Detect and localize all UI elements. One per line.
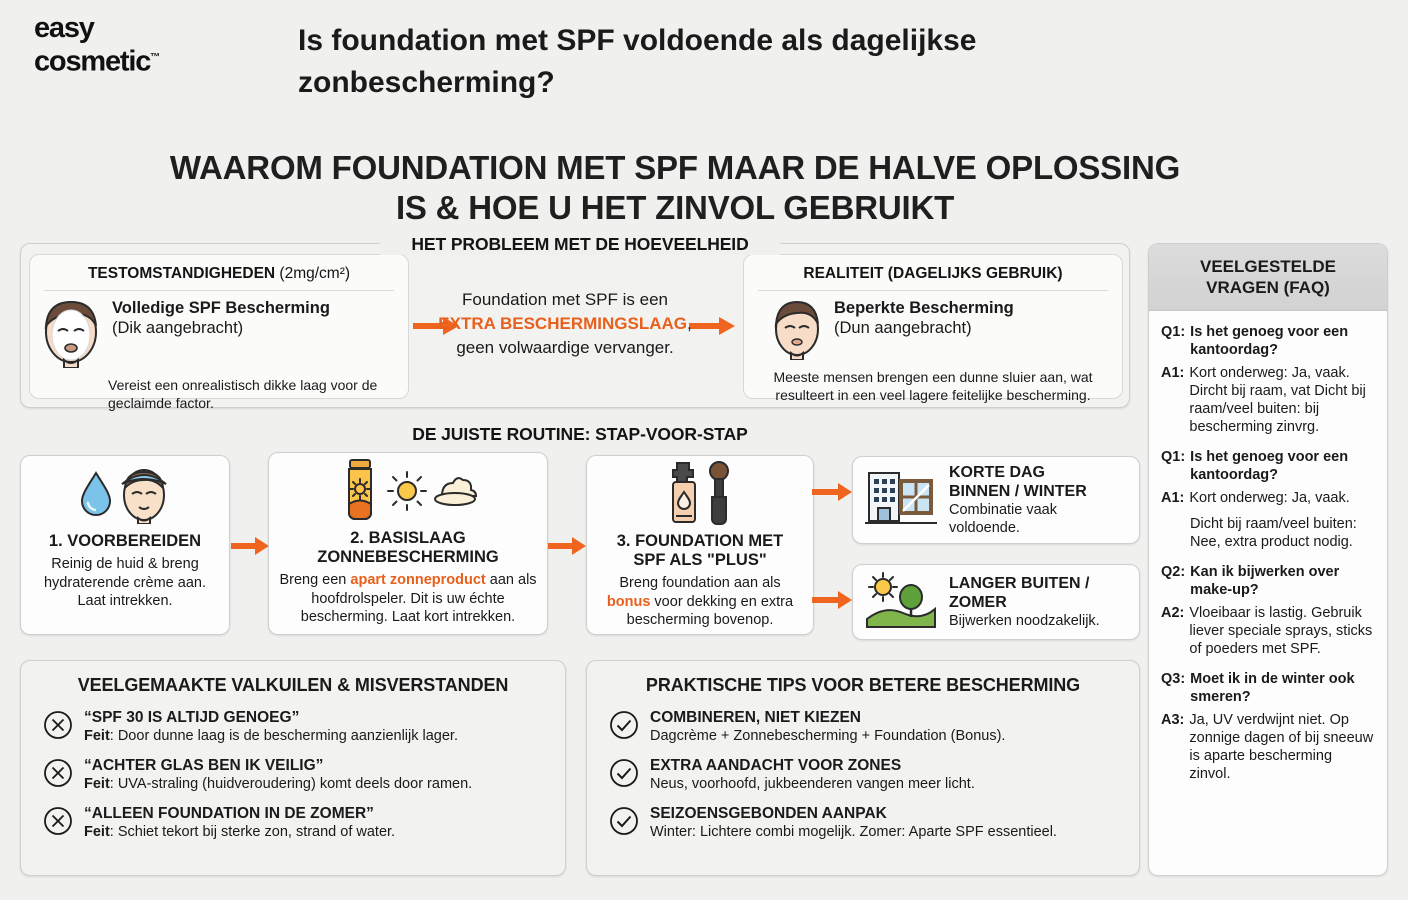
faq-a-text: Ja, UV verdwijnt niet. Op zonnige dagen …: [1189, 711, 1375, 783]
list-item: “ACHTER GLAS BEN IK VEILIG” Feit: UVA-st…: [21, 752, 565, 800]
check-circle-icon: [609, 758, 639, 794]
tip-3-text: SEIZOENSGEBONDEN AANPAK Winter: Lichtere…: [650, 804, 1057, 842]
reality-text: Beperkte Bescherming (Dun aangebracht): [834, 298, 1014, 365]
pitfall-2-text: “ACHTER GLAS BEN IK VEILIG” Feit: UVA-st…: [84, 756, 472, 794]
reality-subtitle: (Dun aangebracht): [834, 318, 1014, 338]
brand-trademark: ™: [150, 52, 159, 63]
list-item: “SPF 30 IS ALTIJD GENOEG” Feit: Door dun…: [21, 704, 565, 752]
check-circle-icon: [609, 710, 639, 746]
faq-heading-line2: VRAGEN (FAQ): [1159, 277, 1377, 298]
list-item: SEIZOENSGEBONDEN AANPAK Winter: Lichtere…: [587, 800, 1139, 848]
middle-line3: geen volwaardige vervanger.: [404, 336, 726, 360]
test-conditions-text: Volledige SPF Bescherming (Dik aangebrac…: [112, 298, 330, 373]
pitfall-2-fact-body: : UVA-straling (huidveroudering) komt de…: [110, 776, 472, 792]
outcome-2-title-line1: LANGER BUITEN /: [949, 574, 1100, 593]
outcome-1-title-line2: BINNEN / WINTER: [949, 482, 1129, 501]
outcome-short-day: KORTE DAG BINNEN / WINTER Combinatie vaa…: [852, 456, 1140, 544]
step-3-icon-row: [587, 456, 813, 528]
faq-answer-2: A1: Kort onderweg: Ja, vaak.: [1161, 489, 1375, 507]
pitfall-3-title: “ALLEEN FOUNDATION IN DE ZOMER”: [84, 804, 395, 823]
pitfall-2-fact: Feit: UVA-straling (huidveroudering) kom…: [84, 775, 472, 794]
tip-1-title: COMBINEREN, NIET KIEZEN: [650, 708, 1005, 727]
tips-card: PRAKTISCHE TIPS VOOR BETERE BESCHERMING …: [586, 660, 1140, 876]
faq-body: Q1: Is het genoeg voor een kantoordag? A…: [1149, 311, 1387, 783]
faq-a-text: Vloeibaar is lastig. Gebruik liever spec…: [1189, 604, 1375, 658]
pitfall-1-fact-label: Feit: [84, 728, 110, 744]
step-2-title-line2: ZONNEBESCHERMING: [269, 548, 547, 567]
routine-section-label: DE JUISTE ROUTINE: STAP-VOOR-STAP: [365, 424, 795, 445]
step-3-title-line2: SPF ALS "PLUS": [587, 551, 813, 570]
arrow-right-icon: [812, 483, 852, 506]
faq-a-text: Kort onderweg: Ja, vaak.: [1189, 489, 1349, 507]
faq-q-text: Kan ik bijwerken over make-up?: [1190, 563, 1375, 599]
pitfalls-card: VEELGEMAAKTE VALKUILEN & MISVERSTANDEN “…: [20, 660, 566, 876]
pitfall-2-title: “ACHTER GLAS BEN IK VEILIG”: [84, 756, 472, 775]
routine-step-2: 2. BASISLAAG ZONNEBESCHERMING Breng een …: [268, 452, 548, 635]
brand-logo-line1: easy: [34, 14, 214, 43]
tip-3-title: SEIZOENSGEBONDEN AANPAK: [650, 804, 1057, 823]
faq-card: VEELGESTELDE VRAGEN (FAQ) Q1: Is het gen…: [1148, 243, 1388, 876]
pitfall-3-text: “ALLEEN FOUNDATION IN DE ZOMER” Feit: Sc…: [84, 804, 395, 842]
arrow-right-icon: [812, 591, 852, 614]
makeup-brush-icon: [705, 461, 733, 532]
faq-question-1: Q1: Is het genoeg voor een kantoordag?: [1161, 323, 1375, 359]
cross-circle-icon: [43, 806, 73, 842]
pitfall-3-fact: Feit: Schiet tekort bij sterke zon, stra…: [84, 823, 395, 842]
outcome-1-desc: Combinatie vaak voldoende.: [949, 501, 1129, 537]
faq-q-tag: Q1:: [1161, 448, 1185, 484]
step-3-title-line1: 3. FOUNDATION MET: [587, 532, 813, 551]
water-drop-icon: [79, 470, 113, 523]
step-2-desc: Breng een apart zonneproduct aan als hoo…: [269, 567, 547, 627]
faq-heading-line1: VEELGESTELDE: [1159, 256, 1377, 277]
cross-circle-icon: [43, 758, 73, 794]
test-conditions-footnote: Vereist een onrealistisch dikke laag voo…: [30, 373, 408, 412]
faq-entry-4[interactable]: Q3: Moet ik in de winter ook smeren? A3:…: [1161, 670, 1375, 783]
middle-comma: ,: [687, 314, 692, 333]
step-3-desc-after: voor dekking en extra bescherming boveno…: [627, 594, 793, 629]
step-2-icon-row: [269, 453, 547, 525]
main-heading: WAAROM FOUNDATION MET SPF MAAR DE HALVE …: [60, 148, 1290, 228]
infographic-page: easy cosmetic™ Is foundation met SPF vol…: [0, 0, 1408, 900]
middle-highlight: EXTRA BESCHERMINGSLAAG: [438, 314, 687, 333]
tip-2-text: EXTRA AANDACHT VOOR ZONES Neus, voorhoof…: [650, 756, 975, 794]
middle-line2: EXTRA BESCHERMINGSLAAG,: [404, 312, 726, 336]
brand-logo-line2: cosmetic™: [34, 43, 214, 77]
page-title: Is foundation met SPF voldoende als dage…: [298, 20, 1178, 104]
faq-q-text: Is het genoeg voor een kantoordag?: [1190, 323, 1375, 359]
outcome-1-row: KORTE DAG BINNEN / WINTER Combinatie vaa…: [853, 457, 1139, 543]
tips-heading: PRAKTISCHE TIPS VOOR BETERE BESCHERMING: [587, 661, 1139, 704]
brand-logo: easy cosmetic™: [34, 14, 214, 77]
list-item: EXTRA AANDACHT VOOR ZONES Neus, voorhoof…: [587, 752, 1139, 800]
outcome-2-text: LANGER BUITEN / ZOMER Bijwerken noodzake…: [949, 574, 1100, 630]
brand-logo-line2-text: cosmetic: [34, 46, 150, 78]
reality-title: Beperkte Bescherming: [834, 298, 1014, 318]
test-conditions-heading: TESTOMSTANDIGHEDEN (2mg/cm²): [30, 255, 408, 283]
problem-section-label: HET PROBLEEM MET DE HOEVEELHEID: [380, 234, 780, 255]
arrow-right-icon: [548, 537, 586, 560]
reality-footnote: Meeste mensen brengen een dunne sluier a…: [744, 365, 1122, 404]
sun-tree-landscape-icon: [863, 571, 939, 634]
office-window-icon: [863, 467, 939, 534]
pitfall-3-fact-body: : Schiet tekort bij sterke zon, strand o…: [110, 824, 395, 840]
faq-a-tag: A2:: [1161, 604, 1184, 658]
faq-answer-2-cont: Dicht bij raam/veel buiten: Nee, extra p…: [1161, 515, 1375, 551]
list-item: COMBINEREN, NIET KIEZEN Dagcrème + Zonne…: [587, 704, 1139, 752]
step-3-desc-before: Breng foundation aan als: [619, 575, 780, 591]
faq-answer-3: A2: Vloeibaar is lastig. Gebruik liever …: [1161, 604, 1375, 658]
step-2-desc-highlight: apart zonneproduct: [350, 572, 485, 588]
main-heading-line2: IS & HOE U HET ZINVOL GEBRUIKT: [60, 188, 1290, 228]
faq-heading: VEELGESTELDE VRAGEN (FAQ): [1149, 244, 1387, 311]
pitfall-2-fact-label: Feit: [84, 776, 110, 792]
faq-q-tag: Q1:: [1161, 323, 1185, 359]
test-conditions-body: Volledige SPF Bescherming (Dik aangebrac…: [30, 291, 408, 373]
step-1-desc: Reinig de huid & breng hydraterende crèm…: [21, 551, 229, 611]
reality-body: Beperkte Bescherming (Dun aangebracht): [744, 291, 1122, 365]
outcome-long-outside: LANGER BUITEN / ZOMER Bijwerken noodzake…: [852, 564, 1140, 640]
main-heading-line1: WAAROM FOUNDATION MET SPF MAAR DE HALVE …: [60, 148, 1290, 188]
pitfall-1-title: “SPF 30 IS ALTIJD GENOEG”: [84, 708, 458, 727]
page-header: easy cosmetic™ Is foundation met SPF vol…: [0, 0, 1408, 118]
faq-question-2: Q1: Is het genoeg voor een kantoordag?: [1161, 448, 1375, 484]
pitfall-3-fact-label: Feit: [84, 824, 110, 840]
faq-a-text: Kort onderweg: Ja, vaak. Dircht bij raam…: [1189, 364, 1375, 436]
sun-icon: [386, 470, 428, 517]
tip-2-fact: Neus, voorhoofd, jukbeenderen vangen mee…: [650, 775, 975, 794]
tip-1-text: COMBINEREN, NIET KIEZEN Dagcrème + Zonne…: [650, 708, 1005, 746]
reality-heading: REALITEIT (DAGELIJKS GEBRUIK): [744, 255, 1122, 283]
problem-middle-message: Foundation met SPF is een EXTRA BESCHERM…: [404, 288, 726, 360]
arrow-right-icon: [231, 537, 269, 560]
outcome-1-text: KORTE DAG BINNEN / WINTER Combinatie vaa…: [949, 463, 1129, 537]
outcome-2-row: LANGER BUITEN / ZOMER Bijwerken noodzake…: [853, 565, 1139, 639]
face-thin-layer-icon: [770, 298, 824, 365]
step-1-icon-row: [21, 456, 229, 528]
faq-a-tag: A1:: [1161, 364, 1184, 436]
cream-dollop-icon: [432, 474, 478, 513]
tip-2-title: EXTRA AANDACHT VOOR ZONES: [650, 756, 975, 775]
faq-a-tag: A3:: [1161, 711, 1184, 783]
check-circle-icon: [609, 806, 639, 842]
faq-a-tag: A1:: [1161, 489, 1184, 507]
face-headband-icon: [117, 464, 171, 529]
reality-panel: REALITEIT (DAGELIJKS GEBRUIK) Beperkte B…: [743, 254, 1123, 399]
face-mask-icon: [40, 298, 102, 373]
faq-q-text: Is het genoeg voor een kantoordag?: [1190, 448, 1375, 484]
outcome-2-title-line2: ZOMER: [949, 593, 1100, 612]
pitfalls-heading: VEELGEMAAKTE VALKUILEN & MISVERSTANDEN: [21, 661, 565, 704]
foundation-bottle-icon: [667, 461, 701, 532]
faq-question-3: Q2: Kan ik bijwerken over make-up?: [1161, 563, 1375, 599]
faq-entry-2[interactable]: Q1: Is het genoeg voor een kantoordag? A…: [1161, 448, 1375, 551]
step-2-title-line1: 2. BASISLAAG: [269, 529, 547, 548]
step-2-desc-before: Breng een: [279, 572, 350, 588]
faq-answer-1: A1: Kort onderweg: Ja, vaak. Dircht bij …: [1161, 364, 1375, 436]
tip-1-fact: Dagcrème + Zonnebescherming + Foundation…: [650, 727, 1005, 746]
tip-3-fact: Winter: Lichtere combi mogelijk. Zomer: …: [650, 823, 1057, 842]
faq-entry-3[interactable]: Q2: Kan ik bijwerken over make-up? A2: V…: [1161, 563, 1375, 658]
cross-circle-icon: [43, 710, 73, 746]
outcome-2-desc: Bijwerken noodzakelijk.: [949, 612, 1100, 630]
test-conditions-heading-strong: TESTOMSTANDIGHEDEN: [88, 265, 275, 282]
outcome-1-title-line1: KORTE DAG: [949, 463, 1129, 482]
routine-step-1: 1. VOORBEREIDEN Reinig de huid & breng h…: [20, 455, 230, 635]
sunscreen-tube-icon: [338, 458, 382, 529]
step-1-title: 1. VOORBEREIDEN: [21, 532, 229, 551]
test-conditions-title: Volledige SPF Bescherming: [112, 298, 330, 318]
test-conditions-panel: TESTOMSTANDIGHEDEN (2mg/cm²): [29, 254, 409, 399]
faq-q-tag: Q2:: [1161, 563, 1185, 599]
faq-a-text-2: Dicht bij raam/veel buiten: Nee, extra p…: [1190, 515, 1375, 551]
routine-step-3: 3. FOUNDATION MET SPF ALS "PLUS" Breng f…: [586, 455, 814, 635]
step-3-desc-highlight: bonus: [607, 594, 651, 610]
faq-q-tag: Q3:: [1161, 670, 1185, 706]
faq-question-4: Q3: Moet ik in de winter ook smeren?: [1161, 670, 1375, 706]
pitfall-1-text: “SPF 30 IS ALTIJD GENOEG” Feit: Door dun…: [84, 708, 458, 746]
pitfall-1-fact: Feit: Door dunne laag is de bescherming …: [84, 727, 458, 746]
test-conditions-subtitle: (Dik aangebracht): [112, 318, 330, 338]
step-3-desc: Breng foundation aan als bonus voor dekk…: [587, 570, 813, 630]
pitfall-1-fact-body: : Door dunne laag is de bescherming aanz…: [110, 728, 458, 744]
faq-entry-1[interactable]: Q1: Is het genoeg voor een kantoordag? A…: [1161, 323, 1375, 436]
list-item: “ALLEEN FOUNDATION IN DE ZOMER” Feit: Sc…: [21, 800, 565, 848]
faq-answer-4: A3: Ja, UV verdwijnt niet. Op zonnige da…: [1161, 711, 1375, 783]
faq-q-text: Moet ik in de winter ook smeren?: [1190, 670, 1375, 706]
step-2-title: 2. BASISLAAG ZONNEBESCHERMING: [269, 529, 547, 567]
middle-line1: Foundation met SPF is een: [404, 288, 726, 312]
test-conditions-heading-light: (2mg/cm²): [275, 265, 350, 282]
step-3-title: 3. FOUNDATION MET SPF ALS "PLUS": [587, 532, 813, 570]
